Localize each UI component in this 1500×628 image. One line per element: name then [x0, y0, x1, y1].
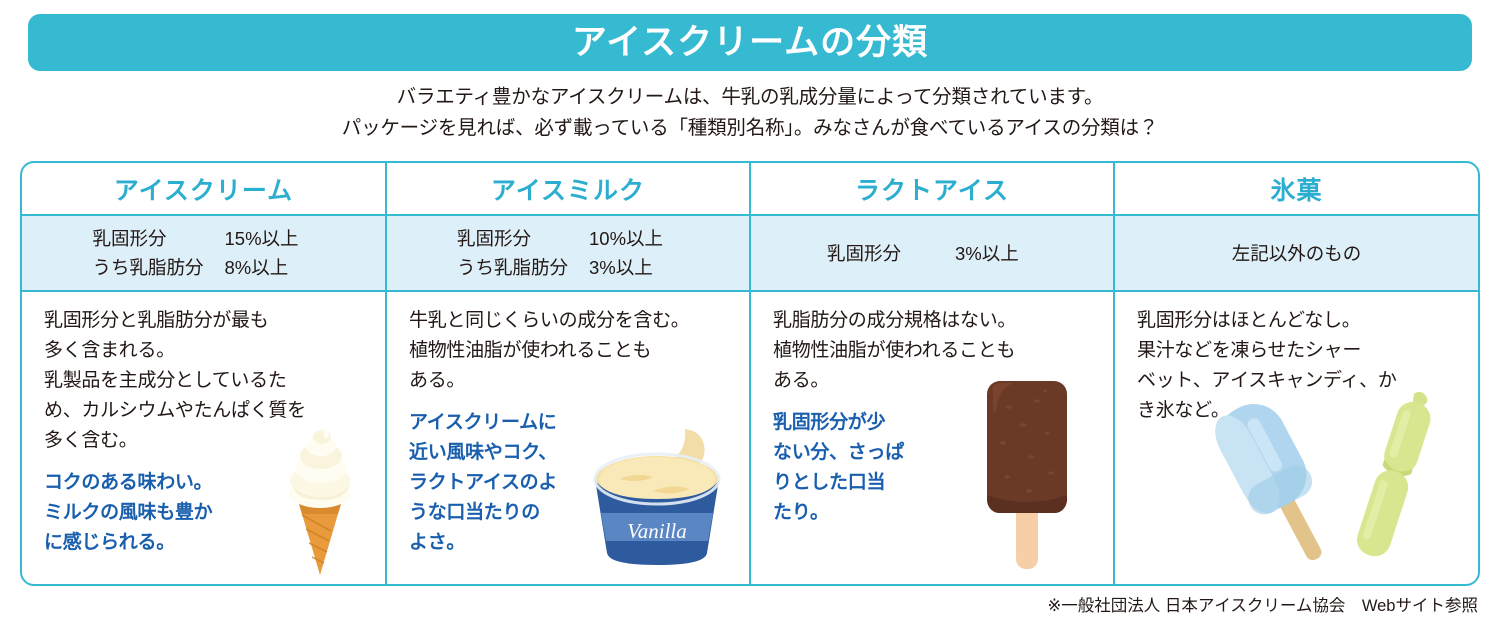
- column-body-lacto-ice: 乳脂肪分の成分規格はない。 植物性油脂が使われることも ある。 乳固形分が少 な…: [751, 292, 1113, 584]
- page-title: アイスクリームの分類: [572, 25, 928, 60]
- table-column-ice-cream: アイスクリーム 乳固形分 15%以上 うち乳脂肪分 8%以上 乳固形分と乳脂肪分…: [22, 163, 387, 584]
- spec-value: 8%以上: [225, 253, 315, 282]
- column-body-ice-milk: 牛乳と同じくらいの成分を含む。 植物性油脂が使われることも ある。 アイスクリー…: [387, 292, 749, 584]
- highlight-line: よさ。: [409, 528, 749, 558]
- description-line: 乳製品を主成分としているた: [44, 366, 385, 396]
- description-line: 牛乳と同じくらいの成分を含む。: [409, 306, 749, 336]
- intro-line-2: パッケージを見れば、必ず載っている「種類別名称」。みなさんが食べているアイスの分…: [0, 113, 1500, 144]
- highlight-line: りとした口当: [773, 468, 1113, 498]
- highlight-line: ミルクの風味も豊か: [44, 498, 385, 528]
- spec-label: うち乳脂肪分: [457, 253, 589, 282]
- spec-row: うち乳脂肪分 8%以上: [93, 253, 315, 282]
- column-spec-ice-confection: 左記以外のもの: [1115, 216, 1478, 292]
- column-body-ice-cream: 乳固形分と乳脂肪分が最も 多く含まれる。 乳製品を主成分としているた め、カルシ…: [22, 292, 385, 584]
- highlight-line: コクのある味わい。: [44, 468, 385, 498]
- column-highlight: アイスクリームに 近い風味やコク、 ラクトアイスのよ うな口当たりの よさ。: [409, 408, 749, 558]
- description-line: き氷など。: [1137, 396, 1478, 426]
- column-description: 乳脂肪分の成分規格はない。 植物性油脂が使われることも ある。: [773, 306, 1113, 396]
- column-spec-ice-milk: 乳固形分 10%以上 うち乳脂肪分 3%以上: [387, 216, 749, 292]
- spec-single-value: 左記以外のもの: [1232, 239, 1362, 268]
- highlight-line: アイスクリームに: [409, 408, 749, 438]
- spec-label: 乳固形分: [827, 239, 955, 268]
- column-description: 牛乳と同じくらいの成分を含む。 植物性油脂が使われることも ある。: [409, 306, 749, 396]
- spec-value: 3%以上: [955, 239, 1037, 268]
- spec-label: うち乳脂肪分: [93, 253, 225, 282]
- spec-row: 乳固形分 3%以上: [827, 239, 1037, 268]
- description-line: 多く含まれる。: [44, 336, 385, 366]
- highlight-line: うな口当たりの: [409, 498, 749, 528]
- description-line: 植物性油脂が使われることも: [773, 336, 1113, 366]
- column-header-ice-milk: アイスミルク: [387, 163, 749, 216]
- description-line: 植物性油脂が使われることも: [409, 336, 749, 366]
- description-line: 果汁などを凍らせたシャー: [1137, 336, 1478, 366]
- column-spec-lacto-ice: 乳固形分 3%以上: [751, 216, 1113, 292]
- table-column-ice-confection: 氷菓 左記以外のもの 乳固形分はほとんどなし。 果汁などを凍らせたシャー ベット…: [1115, 163, 1478, 584]
- title-banner: アイスクリームの分類: [28, 14, 1472, 71]
- highlight-line: 乳固形分が少: [773, 408, 1113, 438]
- description-line: ある。: [773, 366, 1113, 396]
- highlight-line: ない分、さっぱ: [773, 438, 1113, 468]
- intro-paragraph: バラエティ豊かなアイスクリームは、牛乳の乳成分量によって分類されています。 パッ…: [0, 82, 1500, 144]
- column-header-ice-confection: 氷菓: [1115, 163, 1478, 216]
- table-column-lacto-ice: ラクトアイス 乳固形分 3%以上 乳脂肪分の成分規格はない。 植物性油脂が使われ…: [751, 163, 1115, 584]
- highlight-line: 近い風味やコク、: [409, 438, 749, 468]
- column-description: 乳固形分と乳脂肪分が最も 多く含まれる。 乳製品を主成分としているた め、カルシ…: [44, 306, 385, 456]
- column-description: 乳固形分はほとんどなし。 果汁などを凍らせたシャー ベット、アイスキャンディ、か…: [1137, 306, 1478, 426]
- column-spec-ice-cream: 乳固形分 15%以上 うち乳脂肪分 8%以上: [22, 216, 385, 292]
- spec-row: 乳固形分 10%以上: [457, 224, 679, 253]
- description-line: 多く含む。: [44, 426, 385, 456]
- column-header-ice-cream: アイスクリーム: [22, 163, 385, 216]
- source-footnote: ※一般社団法人 日本アイスクリーム協会 Webサイト参照: [1047, 592, 1478, 616]
- table-column-ice-milk: アイスミルク 乳固形分 10%以上 うち乳脂肪分 3%以上 牛乳と同じくらいの成…: [387, 163, 751, 584]
- column-highlight: コクのある味わい。 ミルクの風味も豊か に感じられる。: [44, 468, 385, 558]
- description-line: ベット、アイスキャンディ、か: [1137, 366, 1478, 396]
- highlight-line: に感じられる。: [44, 528, 385, 558]
- spec-row: 左記以外のもの: [1232, 239, 1362, 268]
- column-header-lacto-ice: ラクトアイス: [751, 163, 1113, 216]
- intro-line-1: バラエティ豊かなアイスクリームは、牛乳の乳成分量によって分類されています。: [0, 82, 1500, 113]
- spec-value: 10%以上: [589, 224, 679, 253]
- description-line: 乳脂肪分の成分規格はない。: [773, 306, 1113, 336]
- description-line: 乳固形分はほとんどなし。: [1137, 306, 1478, 336]
- spec-label: 乳固形分: [457, 224, 589, 253]
- description-line: め、カルシウムやたんぱく質を: [44, 396, 385, 426]
- description-line: 乳固形分と乳脂肪分が最も: [44, 306, 385, 336]
- column-body-ice-confection: 乳固形分はほとんどなし。 果汁などを凍らせたシャー ベット、アイスキャンディ、か…: [1115, 292, 1478, 584]
- classification-table: アイスクリーム 乳固形分 15%以上 うち乳脂肪分 8%以上 乳固形分と乳脂肪分…: [20, 161, 1480, 586]
- highlight-line: たり。: [773, 498, 1113, 528]
- spec-row: うち乳脂肪分 3%以上: [457, 253, 679, 282]
- spec-label: 乳固形分: [93, 224, 225, 253]
- highlight-line: ラクトアイスのよ: [409, 468, 749, 498]
- spec-value: 3%以上: [589, 253, 679, 282]
- column-highlight: 乳固形分が少 ない分、さっぱ りとした口当 たり。: [773, 408, 1113, 528]
- spec-row: 乳固形分 15%以上: [93, 224, 315, 253]
- spec-value: 15%以上: [225, 224, 315, 253]
- description-line: ある。: [409, 366, 749, 396]
